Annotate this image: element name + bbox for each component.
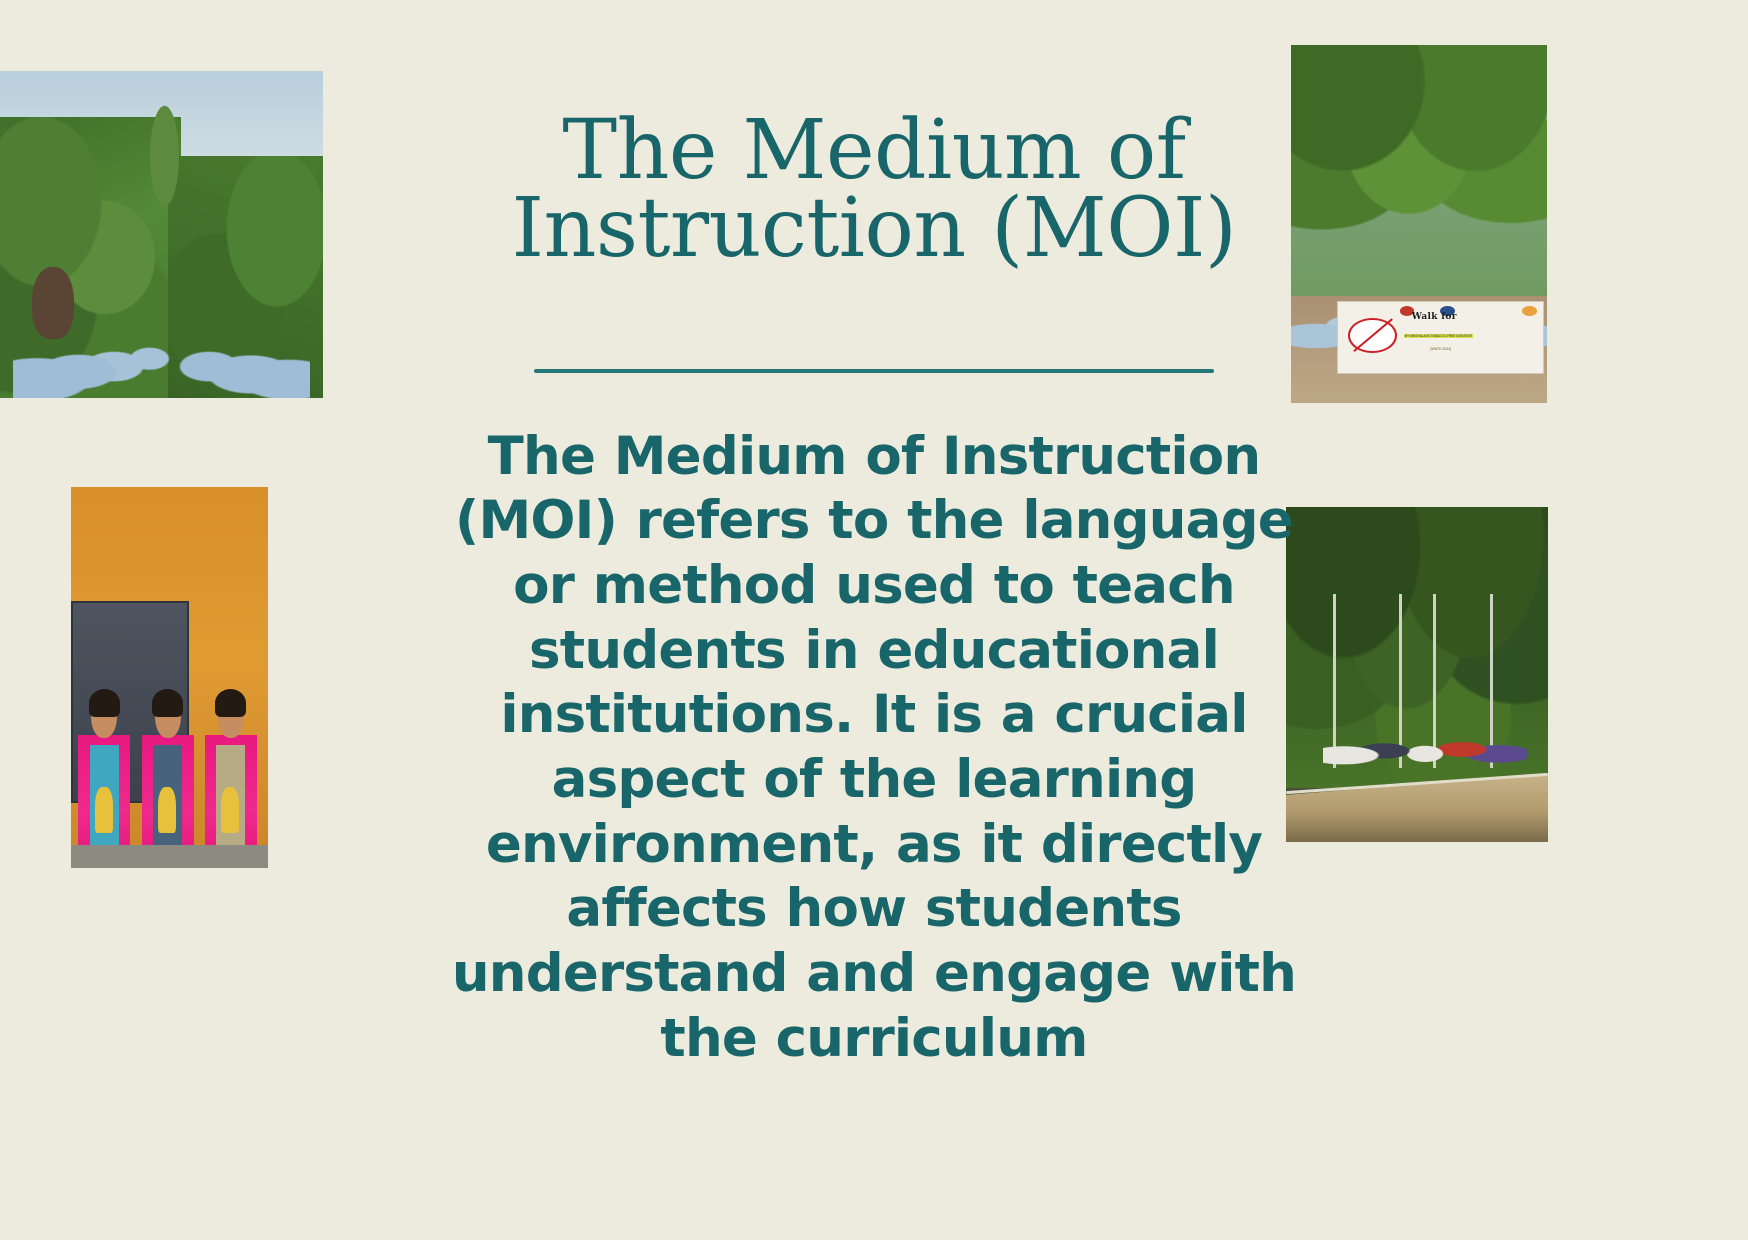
- banner-subtitle: MY MEGHALAYA TOBACCO-FREE INITIATIVE: [1404, 334, 1474, 338]
- hair: [89, 689, 120, 717]
- photo-girls-with-trophies: [71, 487, 268, 868]
- banner-logo-right-icon: [1522, 306, 1536, 316]
- body-paragraph: The Medium of Instruction (MOI) refers t…: [424, 425, 1324, 1072]
- hair: [215, 689, 246, 717]
- hair: [152, 689, 183, 717]
- banner-title: Walk for: [1412, 312, 1457, 322]
- photo-walking-content: [0, 71, 323, 398]
- photo-students-walking: [0, 71, 323, 398]
- girl-right: [201, 693, 260, 868]
- girl-middle: [138, 693, 197, 868]
- banner-note: (WNTD 2024): [1430, 347, 1451, 351]
- trophy-icon: [221, 787, 239, 833]
- tall-tree: [142, 104, 187, 235]
- floor: [71, 845, 268, 868]
- content-column: The Medium of Instruction (MOI) The Medi…: [374, 0, 1374, 1240]
- photo-trophy-content: [71, 487, 268, 868]
- girl-left: [75, 693, 134, 868]
- foreground-student: [32, 267, 74, 339]
- page-title: The Medium of Instruction (MOI): [404, 112, 1344, 268]
- title-divider: [534, 369, 1214, 373]
- trophy-icon: [158, 787, 176, 833]
- trophy-icon: [95, 787, 113, 833]
- slide-canvas: Walk for MY MEGHALAYA TOBACCO-FREE INITI…: [0, 0, 1748, 1240]
